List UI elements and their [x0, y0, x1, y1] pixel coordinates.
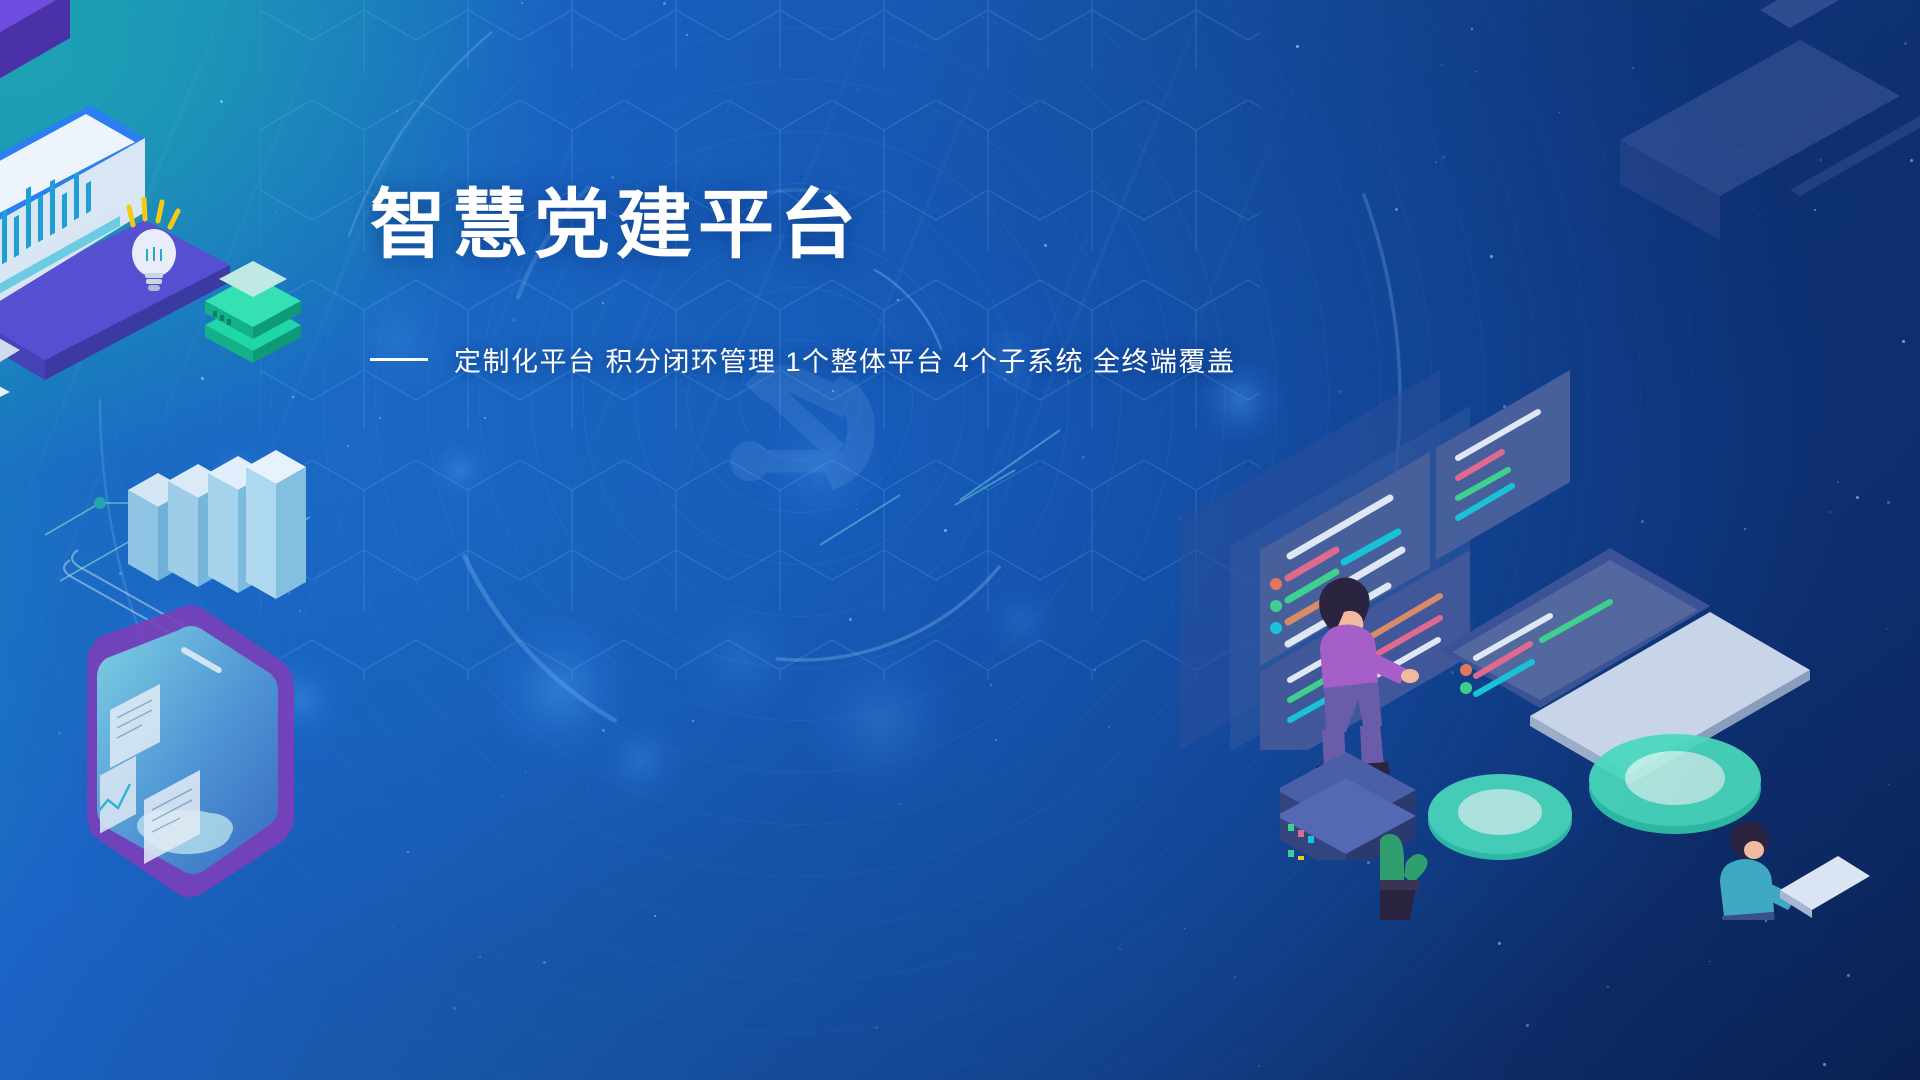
seated-person-laptop — [1720, 821, 1870, 920]
sparkle-dot-114 — [1108, 726, 1110, 728]
sparkle-dot-88 — [393, 926, 394, 927]
circular-podium-a — [1428, 774, 1572, 860]
sparkle-dot-117 — [995, 739, 997, 741]
potted-cactus — [1380, 834, 1428, 920]
sparkle-dot-40 — [990, 684, 992, 686]
sparkle-dot-3 — [1837, 481, 1839, 483]
sparkle-dot-93 — [1435, 161, 1437, 163]
sparkle-dot-100 — [525, 772, 526, 773]
sparkle-dot-35 — [1234, 976, 1236, 978]
sparkle-dot-69 — [1526, 1024, 1529, 1027]
glow-orb-9 — [595, 715, 685, 805]
sparkle-dot-104 — [1442, 156, 1445, 159]
sparkle-dot-16 — [1699, 433, 1700, 434]
right-laptop-scene — [1380, 520, 1920, 920]
isometric-data-bars — [40, 385, 340, 635]
sparkle-dot-30 — [1395, 208, 1398, 211]
sparkle-dot-91 — [692, 720, 694, 722]
sparkle-dot-76 — [1887, 501, 1890, 504]
sparkle-dot-2 — [588, 786, 589, 787]
sparkle-dot-63 — [543, 961, 546, 964]
subtitle-rule — [370, 358, 428, 361]
sparkle-dot-106 — [1607, 986, 1609, 988]
subtitle-text: 定制化平台 积分闭环管理 1个整体平台 4个子系统 全终端覆盖 — [454, 340, 1236, 379]
sparkle-dot-67 — [1471, 28, 1473, 30]
sparkle-dot-66 — [1296, 45, 1299, 48]
top-right-faint-panels — [1560, 0, 1920, 330]
subtitle-row: 定制化平台 积分闭环管理 1个整体平台 4个子系统 全终端覆盖 — [370, 340, 1370, 379]
chart-card — [100, 756, 136, 840]
sparkle-dot-58 — [602, 729, 605, 732]
sparkle-dot-29 — [1476, 71, 1477, 72]
sparkle-dot-11 — [899, 803, 901, 805]
sparkle-dot-113 — [1902, 340, 1905, 343]
hero-banner: 智慧党建平台 定制化平台 积分闭环管理 1个整体平台 4个子系统 全终端覆盖 — [0, 0, 1920, 1080]
sparkle-dot-118 — [1183, 862, 1184, 863]
sparkle-dot-45 — [58, 732, 61, 735]
sparkle-dot-73 — [1258, 1065, 1260, 1067]
sparkle-dot-64 — [1441, 64, 1443, 66]
sparkle-dot-8 — [1184, 928, 1185, 929]
sparkle-dot-83 — [1847, 974, 1850, 977]
page-title: 智慧党建平台 — [370, 188, 1370, 264]
sparkle-dot-110 — [407, 851, 409, 853]
top-left-purple-card — [0, 0, 160, 160]
green-server-stack — [195, 255, 315, 365]
bar-4 — [246, 450, 306, 599]
sparkle-dot-75 — [1498, 942, 1501, 945]
document-cards — [100, 650, 290, 880]
circular-podium-b — [1589, 734, 1761, 834]
sparkle-dot-19 — [453, 1007, 456, 1010]
sparkle-dot-59 — [1709, 961, 1710, 962]
sparkle-dot-78 — [1823, 1063, 1826, 1066]
sparkle-dot-102 — [875, 1026, 878, 1029]
sparkle-dot-23 — [1765, 920, 1767, 922]
hero-text-block: 智慧党建平台 定制化平台 积分闭环管理 1个整体平台 4个子系统 全终端覆盖 — [370, 188, 1370, 379]
sparkle-dot-13 — [501, 795, 503, 797]
sparkle-dot-84 — [71, 811, 72, 812]
sparkle-dot-115 — [1119, 948, 1121, 950]
sparkle-dot-7 — [654, 915, 656, 917]
sparkle-dot-17 — [1856, 496, 1859, 499]
sparkle-dot-26 — [1490, 255, 1493, 258]
sparkle-dot-116 — [1829, 511, 1831, 513]
sparkle-dot-24 — [1367, 861, 1370, 864]
sparkle-dot-57 — [479, 956, 481, 958]
